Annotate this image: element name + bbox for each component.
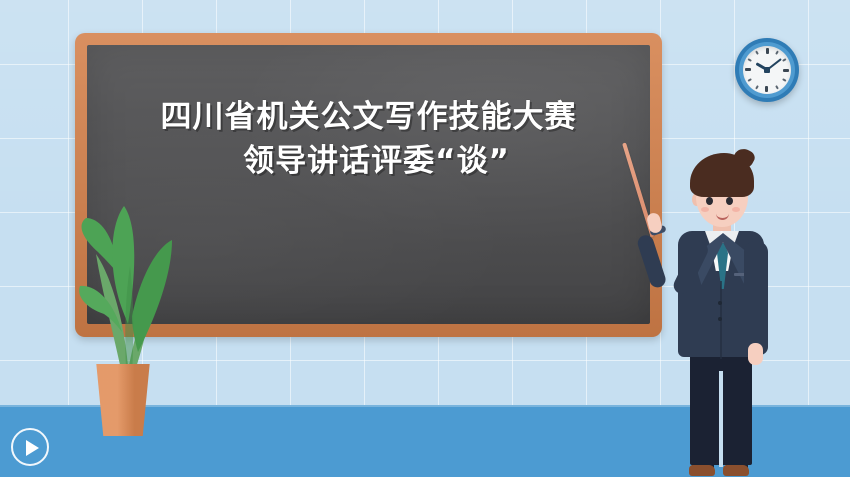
blackboard-title-block: 四川省机关公文写作技能大赛 领导讲话评委“谈” <box>87 95 650 183</box>
presenter-shoe-right <box>723 465 749 476</box>
presenter-cheek-right <box>732 207 740 212</box>
presenter-hand-right <box>748 343 763 365</box>
presenter-character <box>660 145 790 477</box>
clock-center-pin <box>764 67 770 73</box>
presenter-eye-left <box>706 197 713 205</box>
presenter-eye-right <box>726 197 733 205</box>
presenter-leg-right <box>726 381 748 471</box>
presenter-jacket-button-2 <box>718 317 722 321</box>
play-button[interactable] <box>11 428 49 466</box>
presenter-leg-gap <box>719 371 723 467</box>
presenter-arm-right <box>744 241 768 355</box>
plant-pot-shading <box>94 364 152 436</box>
presenter-leg-left <box>692 381 714 471</box>
presenter-shoe-left <box>689 465 715 476</box>
play-icon <box>26 440 39 456</box>
clock-face <box>743 46 791 94</box>
clock-icon <box>735 38 799 102</box>
video-frame: 四川省机关公文写作技能大赛 领导讲话评委“谈” <box>0 0 850 477</box>
presenter-hair-fringe <box>691 163 733 188</box>
blackboard-title-line-1: 四川省机关公文写作技能大赛 <box>87 95 650 139</box>
presenter-upper-arm-left <box>671 239 711 297</box>
presenter-cheek-left <box>701 207 709 212</box>
presenter-arm-left <box>648 237 726 299</box>
presenter-jacket-button-1 <box>718 301 722 305</box>
blackboard-title-line-2: 领导讲话评委“谈” <box>87 139 650 183</box>
potted-plant <box>62 196 192 446</box>
